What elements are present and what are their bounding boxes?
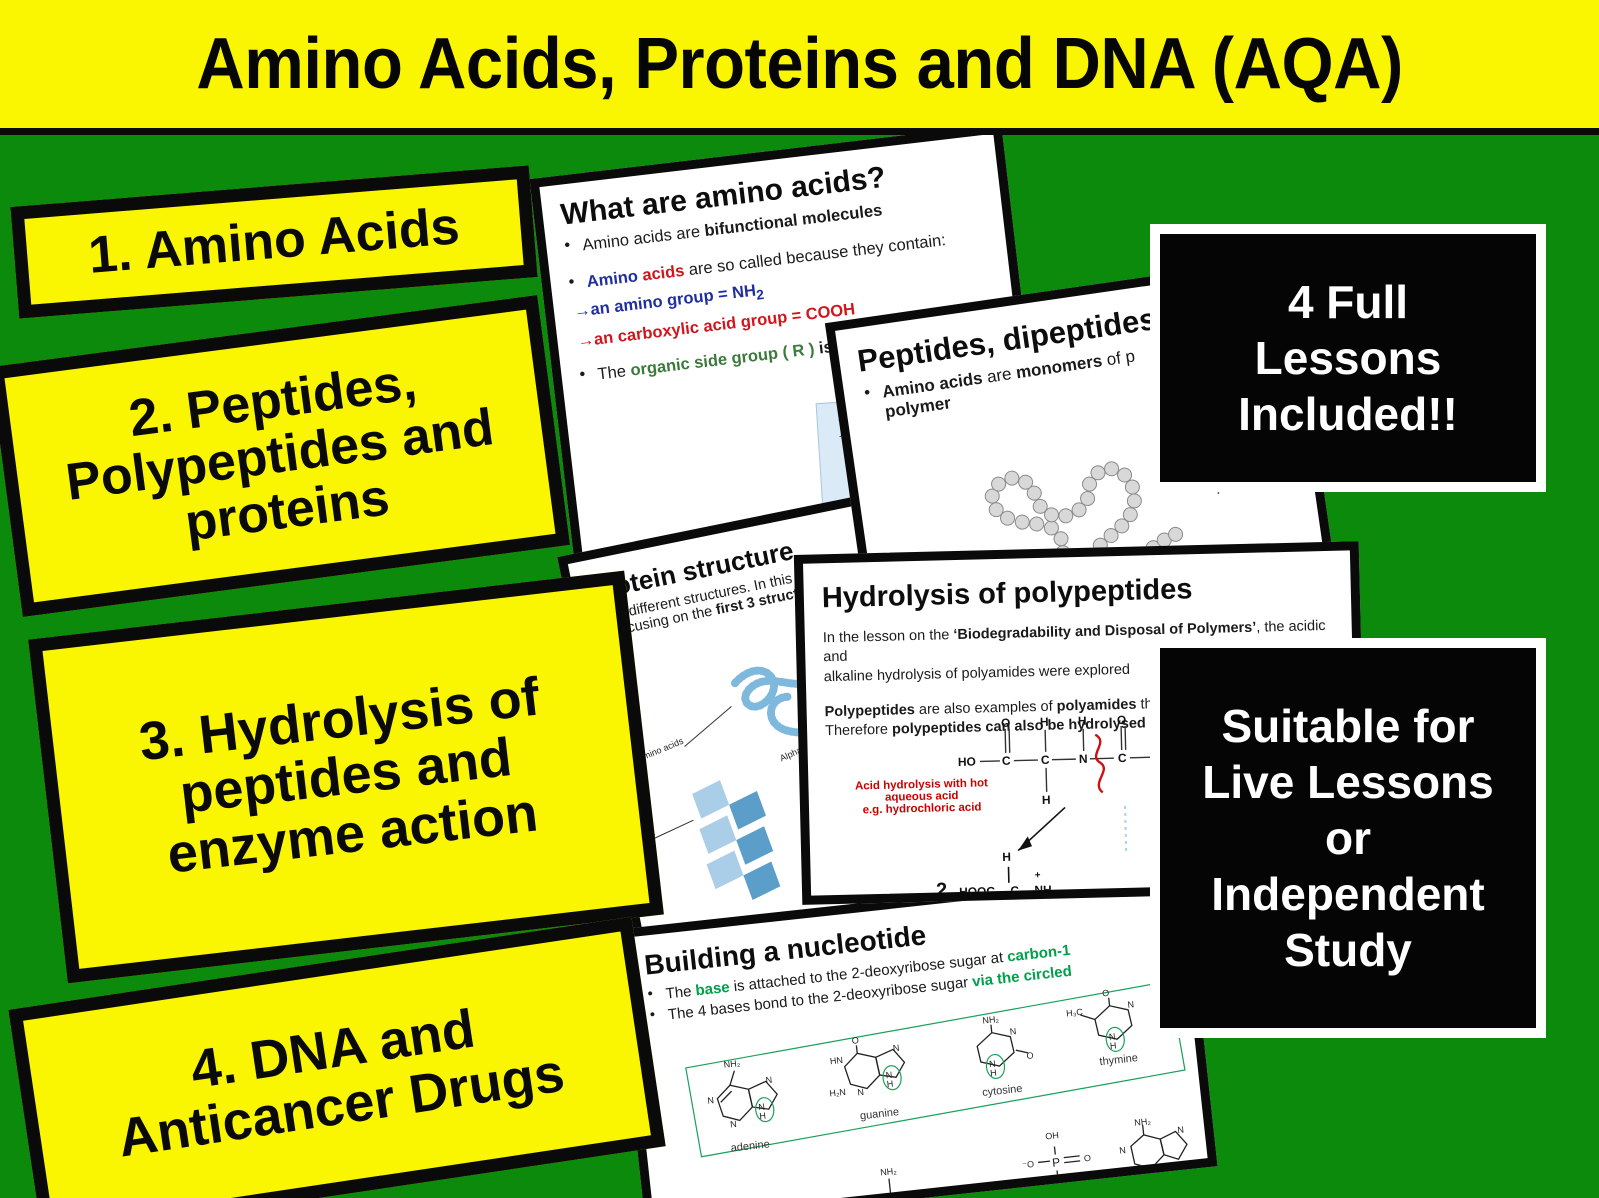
poster-title-band: Amino Acids, Proteins and DNA (AQA)	[0, 0, 1599, 135]
adenine-n3-label: N	[765, 1075, 773, 1086]
guanine-hn-label: HN	[829, 1055, 843, 1066]
phosphate-o-minus-label: ⁻O	[1022, 1159, 1035, 1170]
atom-h5: H	[1042, 793, 1051, 807]
thymine-h-label: H	[1109, 1040, 1117, 1051]
adenine-n-label: N	[707, 1095, 715, 1106]
slide5-b1-green: base	[695, 979, 731, 1000]
thymine-h3c-label: H₃C	[1066, 1007, 1084, 1019]
promo-suitable-for[interactable]: Suitable for Live Lessons or Independent…	[1150, 638, 1546, 1038]
lesson-banner-2[interactable]: 2. Peptides, Polypeptides and proteins	[0, 295, 570, 617]
adenine-nh2-label: NH₂	[723, 1058, 741, 1070]
promo-lessons-included[interactable]: 4 Full Lessons Included!!	[1150, 224, 1546, 492]
slide4-p2-bold1: Polypeptides	[824, 702, 915, 720]
guanine-h-label: H	[886, 1079, 894, 1090]
slide1-b3-green: organic side group ( R )	[629, 340, 815, 379]
phosphate-p-label: P	[1051, 1155, 1060, 1170]
promo-a-line3: Included!!	[1238, 386, 1458, 442]
slide4-p1-c: alkaline hydrolysis of polyamides were e…	[824, 661, 1131, 684]
cytosine-nh2-label: NH₂	[982, 1014, 1000, 1026]
phosphate-oh-label: OH	[1045, 1130, 1060, 1141]
product-formula: HOOC— C —NH	[959, 883, 1052, 899]
product-charge: +	[1035, 870, 1041, 881]
atom-c2: C	[1041, 753, 1050, 767]
slide2-b1-b: are	[981, 364, 1017, 388]
slide1-b2-a: Amino	[586, 267, 644, 291]
promo-b-line1: Suitable for	[1221, 698, 1474, 754]
slide4-title: Hydrolysis of polypeptides	[821, 567, 1333, 618]
base-label-cytosine: cytosine	[982, 1083, 1023, 1099]
slide1-arrow1-sub: 2	[756, 287, 765, 303]
slide2-b1-c: monomers	[1015, 351, 1104, 382]
lower-nh2-label: NH₂	[880, 1166, 898, 1178]
promo-b-line3: or	[1325, 810, 1371, 866]
base-label-guanine: guanine	[859, 1106, 899, 1122]
atom-c3: C	[1118, 751, 1127, 765]
phosphate-o-double-label: O	[1083, 1153, 1091, 1164]
lower-purine-nh2-label: NH₂	[1134, 1116, 1152, 1128]
lesson-banner-3-label: 3. Hydrolysis of peptides and enzyme act…	[67, 661, 625, 894]
slide1-b2-b: acids	[641, 262, 685, 285]
cytosine-o-label: O	[1026, 1050, 1034, 1061]
acid-hydrolysis-note: Acid hydrolysis with hot aqueous acid e.…	[832, 777, 1011, 817]
pleated-sheet-graphic	[691, 773, 782, 908]
guanine-n-label: N	[857, 1087, 865, 1098]
atom-c1: C	[1002, 754, 1011, 768]
lesson-banner-3[interactable]: 3. Hydrolysis of peptides and enzyme act…	[28, 571, 664, 984]
base-label-thymine: thymine	[1099, 1052, 1139, 1068]
cytosine-h-label: H	[990, 1067, 998, 1078]
thymine-n-label: N	[1127, 999, 1135, 1010]
product-coefficient: 2	[936, 879, 948, 901]
product-subscript: 3	[1059, 890, 1064, 899]
promo-a-line1: 4 Full	[1288, 274, 1408, 330]
atom-h1: H	[1040, 715, 1049, 729]
slide5-b1-a: The	[665, 982, 697, 1002]
atom-o1: O	[1001, 716, 1011, 730]
atom-ho: HO	[958, 755, 976, 769]
poster-canvas: What are amino acids? Amino acids are bi…	[0, 0, 1599, 1198]
promo-b-line2: Live Lessons	[1202, 754, 1493, 810]
promo-b-line5: Study	[1284, 922, 1412, 978]
base-label-adenine: adenine	[730, 1138, 770, 1154]
atom-h2: H	[1078, 714, 1087, 728]
lesson-banner-4-label: 4. DNA and Anticancer Drugs	[46, 979, 629, 1177]
lower-purine-n2-label: N	[1177, 1125, 1185, 1136]
promo-b-line4: Independent	[1211, 866, 1484, 922]
atom-o2: O	[1117, 713, 1127, 727]
lesson-banner-1-label: 1. Amino Acids	[86, 200, 461, 285]
lesson-banner-2-label: 2. Peptides, Polypeptides and proteins	[22, 342, 537, 571]
lesson-banner-1[interactable]: 1. Amino Acids	[10, 165, 537, 318]
guanine-o-label: O	[851, 1035, 859, 1046]
cytosine-n-label: N	[1009, 1026, 1017, 1037]
slide1-b3-pre: The	[597, 362, 632, 384]
slide4-p1-a: In the lesson on the	[823, 627, 954, 646]
product-top-h: H	[1002, 850, 1011, 864]
thymine-o-label: O	[1102, 988, 1110, 999]
slide4-p3-a: Therefore	[825, 721, 892, 739]
guanine-h2n-label: H₂N	[829, 1087, 846, 1099]
bond-break-squiggle	[1095, 734, 1104, 792]
slide2-b1-d: of p	[1101, 346, 1136, 370]
adenine-h-label: H	[759, 1111, 767, 1122]
promo-a-line2: Lessons	[1255, 330, 1442, 386]
adenine-n2-label: N	[730, 1119, 738, 1130]
atom-n1: N	[1079, 752, 1088, 766]
cytosine-structure	[975, 1021, 1029, 1068]
slide5-b1-green2: carbon-1	[1006, 942, 1071, 966]
guanine-n2-label: N	[892, 1043, 900, 1054]
lower-purine-n-label: N	[1119, 1145, 1127, 1156]
page-title: Amino Acids, Proteins and DNA (AQA)	[196, 23, 1402, 105]
